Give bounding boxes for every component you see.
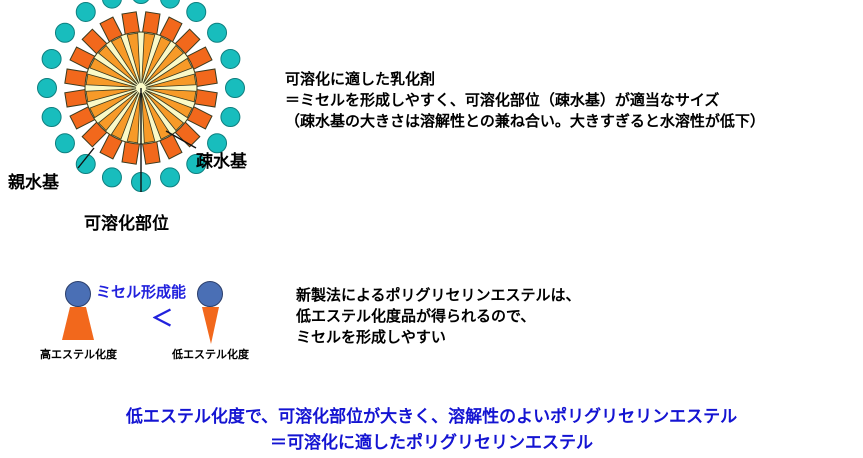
top-note-line-3: （疎水基の大きさは溶解性との兼ね合い。大きすぎると水溶性が低下） (285, 111, 860, 132)
tail-icon-high-esterification (62, 307, 94, 340)
hydrophilic-head (55, 134, 74, 153)
micelle-forming-ability-label: ミセル形成能 (96, 281, 186, 302)
conclusion-line-2: ＝可溶化に適したポリグリセリンエステル (0, 430, 863, 456)
label-hydrophobic-group: 疎水基 (196, 147, 247, 172)
esterification-comparison-block: ＜ ミセル形成能 高エステル化度 低エステル化度 (40, 278, 290, 366)
hydrophilic-head (76, 2, 95, 21)
less-than-operator: ＜ (151, 306, 173, 331)
head-icon-low-esterification (198, 282, 223, 307)
hydrophilic-head (161, 168, 180, 187)
conclusion-line-1: 低エステル化度で、可溶化部位が大きく、溶解性のよいポリグリセリンエステル (0, 404, 863, 430)
tail-icon-low-esterification (202, 307, 219, 344)
top-note-line-2: ＝ミセルを形成しやすく、可溶化部位（疎水基）が適当なサイズ (285, 90, 860, 111)
hydrophilic-head (102, 168, 121, 187)
caption-high-esterification: 高エステル化度 (40, 346, 117, 362)
hydrophilic-head (102, 0, 121, 8)
mid-note-line-3: ミセルを形成しやすい (296, 327, 581, 348)
new-process-description-block: 新製法によるポリグリセリンエステルは、 低エステル化度品が得られるので、 ミセル… (296, 285, 581, 348)
label-solubilization-site: 可溶化部位 (84, 209, 169, 234)
hydrophilic-head (42, 108, 61, 127)
hydrophilic-head (208, 23, 227, 42)
hydrophilic-head (226, 79, 245, 98)
hydrophilic-head (221, 108, 240, 127)
conclusion-block: 低エステル化度で、可溶化部位が大きく、溶解性のよいポリグリセリンエステル ＝可溶… (0, 404, 863, 456)
hydrophilic-head (42, 49, 61, 68)
hydrophilic-head (132, 0, 151, 4)
top-note-line-1: 可溶化に適した乳化剤 (285, 69, 860, 90)
hydrophilic-head (38, 79, 57, 98)
mid-note-line-1: 新製法によるポリグリセリンエステルは、 (296, 285, 581, 306)
hydrophilic-head (55, 23, 74, 42)
hydrophilic-head (221, 49, 240, 68)
mid-note-line-2: 低エステル化度品が得られるので、 (296, 306, 581, 327)
head-icon-high-esterification (66, 282, 91, 307)
caption-low-esterification: 低エステル化度 (172, 346, 249, 362)
hydrophilic-head (161, 0, 180, 8)
hydrophilic-head (187, 2, 206, 21)
top-description-block: 可溶化に適した乳化剤 ＝ミセルを形成しやすく、可溶化部位（疎水基）が適当なサイズ… (285, 69, 860, 132)
label-hydrophilic-group: 親水基 (8, 168, 59, 193)
